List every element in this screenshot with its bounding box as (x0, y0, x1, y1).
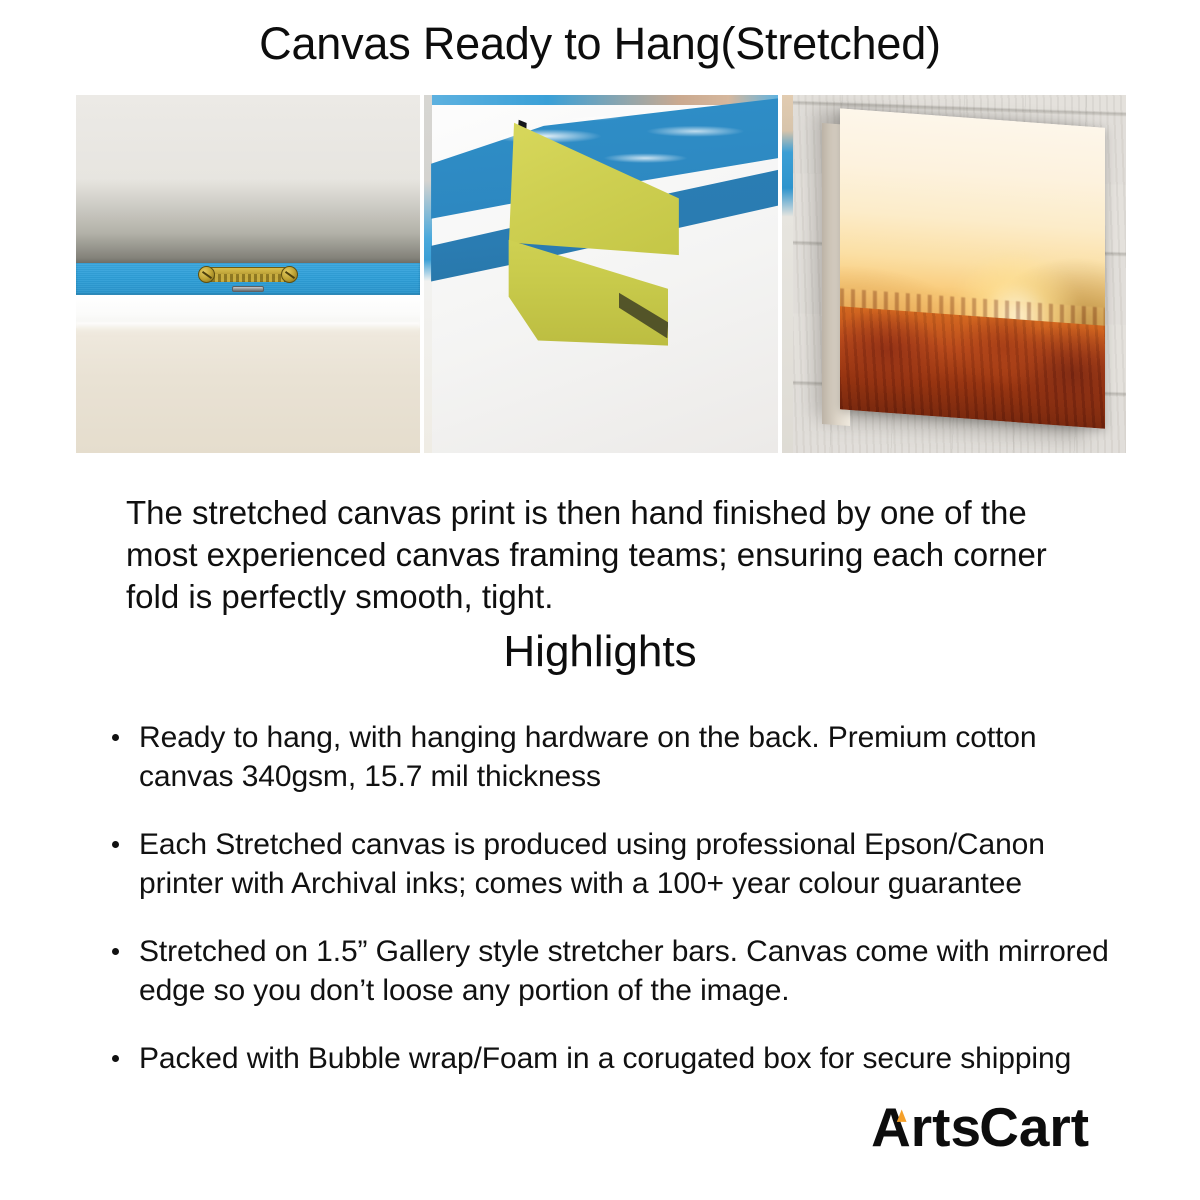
photo3-canvas-face (840, 109, 1105, 429)
bullet-dot-icon (112, 841, 119, 848)
photo2-left-strip (424, 95, 432, 453)
sawtooth-hanger-icon (198, 265, 298, 285)
photo1-canvas-texture (76, 328, 420, 453)
highlights-list: Ready to hang, with hanging hardware on … (106, 718, 1116, 1078)
corner-fold-photo (424, 95, 778, 453)
logo-wordmark-part-one: Arts (871, 1098, 981, 1158)
hanger-screw-left (198, 266, 215, 283)
list-item: Ready to hang, with hanging hardware on … (106, 718, 1116, 796)
infographic-page: Canvas Ready to Hang(Stretched) (0, 0, 1200, 1200)
bullet-dot-icon (112, 1055, 119, 1062)
product-photo-strip (76, 95, 1126, 453)
hanger-nail (232, 286, 264, 292)
photo3-left-strip (782, 95, 793, 453)
list-item: Each Stretched canvas is produced using … (106, 825, 1116, 903)
list-item-text: Each Stretched canvas is produced using … (139, 828, 1045, 900)
list-item-text: Ready to hang, with hanging hardware on … (139, 721, 1036, 793)
list-item: Stretched on 1.5” Gallery style stretche… (106, 932, 1116, 1010)
canvas-back-hardware-photo (76, 95, 420, 453)
highlights-heading: Highlights (0, 627, 1200, 677)
list-item-text: Stretched on 1.5” Gallery style stretche… (139, 935, 1109, 1007)
intro-paragraph: The stretched canvas print is then hand … (126, 492, 1076, 618)
bullet-dot-icon (112, 948, 119, 955)
hanger-teeth (212, 274, 284, 282)
hung-canvas-photo (782, 95, 1126, 453)
list-item: Packed with Bubble wrap/Foam in a coruga… (106, 1039, 1116, 1078)
page-title: Canvas Ready to Hang(Stretched) (0, 18, 1200, 70)
photo2-top-strip (424, 95, 778, 105)
hanger-screw-right (281, 266, 298, 283)
logo-wordmark-part-two: Cart (979, 1098, 1089, 1158)
photo1-wall (76, 95, 420, 263)
photo3-foreground (840, 307, 1105, 429)
artscart-logo: Arts Cart (870, 1098, 1138, 1160)
bullet-dot-icon (112, 734, 119, 741)
list-item-text: Packed with Bubble wrap/Foam in a coruga… (139, 1042, 1071, 1075)
